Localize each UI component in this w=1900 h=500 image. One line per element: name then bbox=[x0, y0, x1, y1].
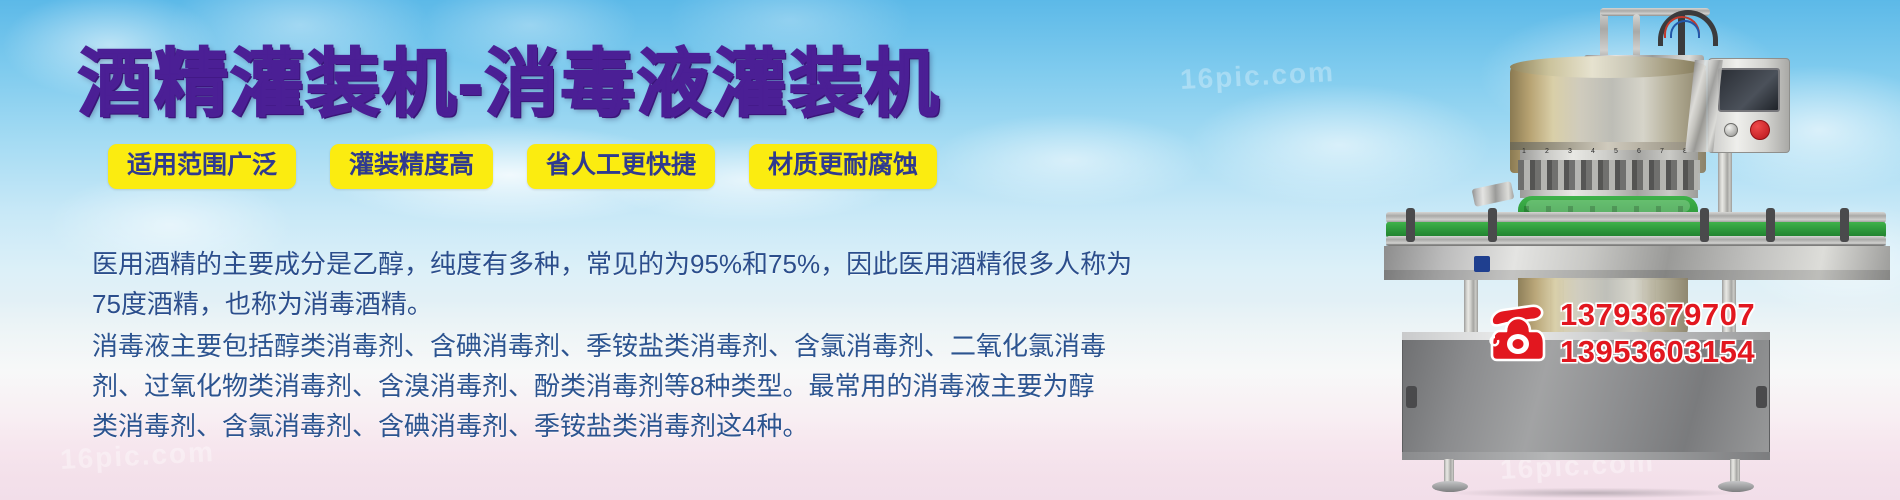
feature-badge-2: 灌装精度高 bbox=[330, 144, 493, 189]
paragraph-alcohol: 医用酒精的主要成分是乙醇，纯度有多种，常见的为95%和75%，因此医用酒精很多人… bbox=[92, 244, 1402, 324]
telephone-icon bbox=[1486, 303, 1550, 365]
paragraph-line: 类消毒剂、含氯消毒剂、含碘消毒剂、季铵盐类消毒剂这4种。 bbox=[92, 406, 1402, 446]
phone-number-secondary[interactable]: 13953603154 bbox=[1560, 335, 1755, 369]
machine-emergency-stop-button bbox=[1750, 120, 1770, 140]
machine-tank-top-ellipse bbox=[1510, 56, 1706, 78]
machine-nozzles bbox=[1518, 160, 1700, 190]
machine-rail-clamp bbox=[1766, 208, 1775, 242]
machine-sensor-box bbox=[1474, 256, 1490, 272]
feature-badge-1: 适用范围广泛 bbox=[108, 144, 296, 189]
machine-station-number: 4 bbox=[1591, 148, 1595, 155]
machine-station-number: 2 bbox=[1545, 148, 1549, 155]
feature-badge-list: 适用范围广泛 灌装精度高 省人工更快捷 材质更耐腐蚀 bbox=[108, 144, 937, 189]
page-title: 酒精灌装机-消毒液灌装机 bbox=[78, 42, 941, 126]
description-block: 医用酒精的主要成分是乙醇，纯度有多种，常见的为95%和75%，因此医用酒精很多人… bbox=[92, 244, 1402, 448]
machine-door-latch bbox=[1406, 386, 1417, 408]
machine-selector-knob bbox=[1724, 123, 1738, 137]
phone-number-list: 13793679707 13953603154 bbox=[1560, 298, 1755, 369]
machine-hmi-screen bbox=[1718, 68, 1780, 112]
machine-ground-shadow bbox=[1398, 486, 1788, 500]
machine-station-number: 1 bbox=[1522, 148, 1526, 155]
machine-station-row: 12345678 bbox=[1516, 148, 1702, 160]
machine-door-latch bbox=[1756, 386, 1767, 408]
product-banner: 16pic.com 16pic.com 16pic.com 12345678 bbox=[0, 0, 1900, 500]
contact-block[interactable]: 13793679707 13953603154 bbox=[1486, 298, 1755, 369]
phone-number-primary[interactable]: 13793679707 bbox=[1560, 298, 1755, 332]
paragraph-line: 消毒液主要包括醇类消毒剂、含碘消毒剂、季铵盐类消毒剂、含氯消毒剂、二氧化氯消毒 bbox=[92, 326, 1402, 366]
machine-base-bottom-edge bbox=[1402, 452, 1770, 460]
machine-rail-clamp bbox=[1700, 208, 1709, 242]
machine-station-number: 6 bbox=[1637, 148, 1641, 155]
feature-badge-3: 省人工更快捷 bbox=[527, 144, 715, 189]
paragraph-line: 医用酒精的主要成分是乙醇，纯度有多种，常见的为95%和75%，因此医用酒精很多人… bbox=[92, 244, 1402, 284]
paragraph-line: 剂、过氧化物类消毒剂、含溴消毒剂、酚类消毒剂等8种类型。最常用的消毒液主要为醇 bbox=[92, 366, 1402, 406]
machine-station-number: 7 bbox=[1660, 148, 1664, 155]
machine-support-leg bbox=[1464, 280, 1478, 338]
machine-rail-clamp bbox=[1840, 208, 1849, 242]
paragraph-line: 75度酒精，也称为消毒酒精。 bbox=[92, 284, 1402, 324]
machine-rail-clamp bbox=[1488, 208, 1497, 242]
paragraph-disinfectant: 消毒液主要包括醇类消毒剂、含碘消毒剂、季铵盐类消毒剂、含氯消毒剂、二氧化氯消毒 … bbox=[92, 326, 1402, 446]
machine-rail-clamp bbox=[1406, 208, 1415, 242]
filling-machine-image: 12345678 bbox=[1378, 0, 1900, 500]
machine-station-number: 3 bbox=[1568, 148, 1572, 155]
machine-station-number: 5 bbox=[1614, 148, 1618, 155]
feature-badge-4: 材质更耐腐蚀 bbox=[749, 144, 937, 189]
machine-guide-plate bbox=[1472, 181, 1515, 207]
